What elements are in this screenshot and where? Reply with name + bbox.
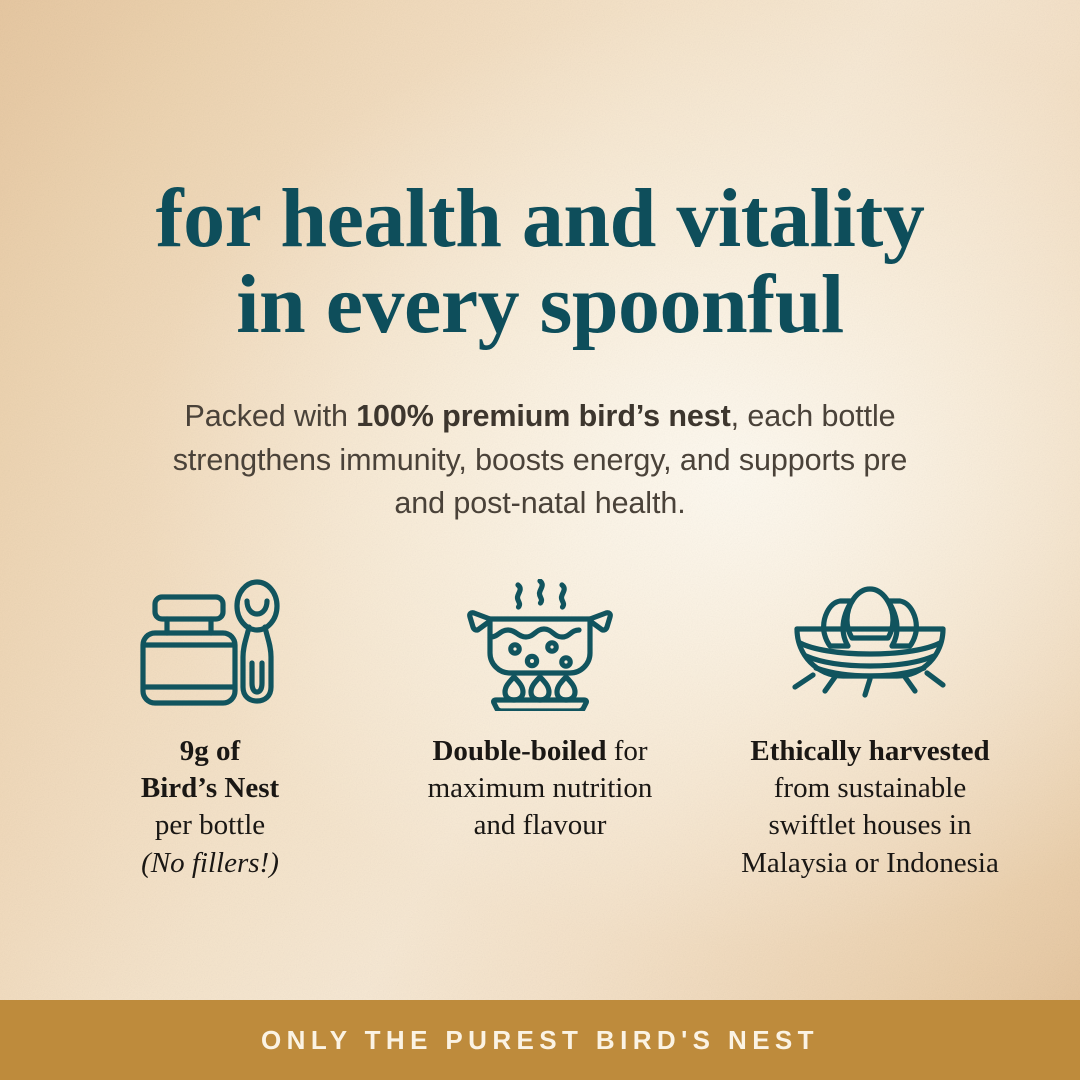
- headline-line-2: in every spoonful: [60, 262, 1020, 348]
- poster-content: for health and vitality in every spoonfu…: [0, 0, 1080, 1080]
- feature-3-line-3: swiftlet houses in: [741, 807, 999, 844]
- feature-icon-slot: [460, 579, 620, 711]
- feature-item-bird-nest-amount: 9g of Bird’s Nest per bottle (No fillers…: [60, 579, 360, 881]
- feature-3-line-1: Ethically harvested: [750, 735, 989, 767]
- boiling-pot-icon: [460, 579, 620, 711]
- feature-1-line-1: 9g of: [180, 735, 240, 767]
- feature-caption: 9g of Bird’s Nest per bottle (No fillers…: [141, 733, 279, 881]
- feature-caption: Ethically harvested from sustainable swi…: [741, 733, 999, 881]
- lede-part-1: Packed with: [184, 399, 356, 433]
- feature-item-double-boiled: Double-boiled for maximum nutrition and …: [390, 579, 690, 844]
- jar-and-spoon-icon: [135, 579, 285, 711]
- bottom-banner: ONLY THE PUREST BIRD'S NEST: [0, 1000, 1080, 1080]
- lede-highlight: 100% premium bird’s nest: [356, 399, 730, 433]
- feature-1-line-3: per bottle: [141, 807, 279, 844]
- feature-2-line-3: and flavour: [428, 807, 653, 844]
- feature-icon-slot: [135, 579, 285, 711]
- feature-3-line-2: from sustainable: [741, 770, 999, 807]
- feature-2-line-1: Double-boiled: [432, 735, 606, 767]
- feature-caption: Double-boiled for maximum nutrition and …: [428, 733, 653, 844]
- feature-2-line-1-suffix: for: [606, 735, 647, 767]
- feature-item-ethical-sourcing: Ethically harvested from sustainable swi…: [720, 579, 1020, 881]
- poster-canvas: for health and vitality in every spoonfu…: [0, 0, 1080, 1080]
- feature-1-line-2: Bird’s Nest: [141, 772, 279, 804]
- feature-2-line-2: maximum nutrition: [428, 770, 653, 807]
- feature-3-line-4: Malaysia or Indonesia: [741, 845, 999, 882]
- headline-line-1: for health and vitality: [156, 172, 925, 265]
- banner-text: ONLY THE PUREST BIRD'S NEST: [261, 1025, 819, 1056]
- feature-icon-slot: [785, 579, 955, 711]
- feature-1-line-4: (No fillers!): [141, 847, 279, 879]
- feature-list: 9g of Bird’s Nest per bottle (No fillers…: [60, 579, 1020, 881]
- nest-with-eggs-icon: [785, 581, 955, 701]
- page-title: for health and vitality in every spoonfu…: [60, 176, 1020, 347]
- lede-paragraph: Packed with 100% premium bird’s nest, ea…: [170, 395, 910, 525]
